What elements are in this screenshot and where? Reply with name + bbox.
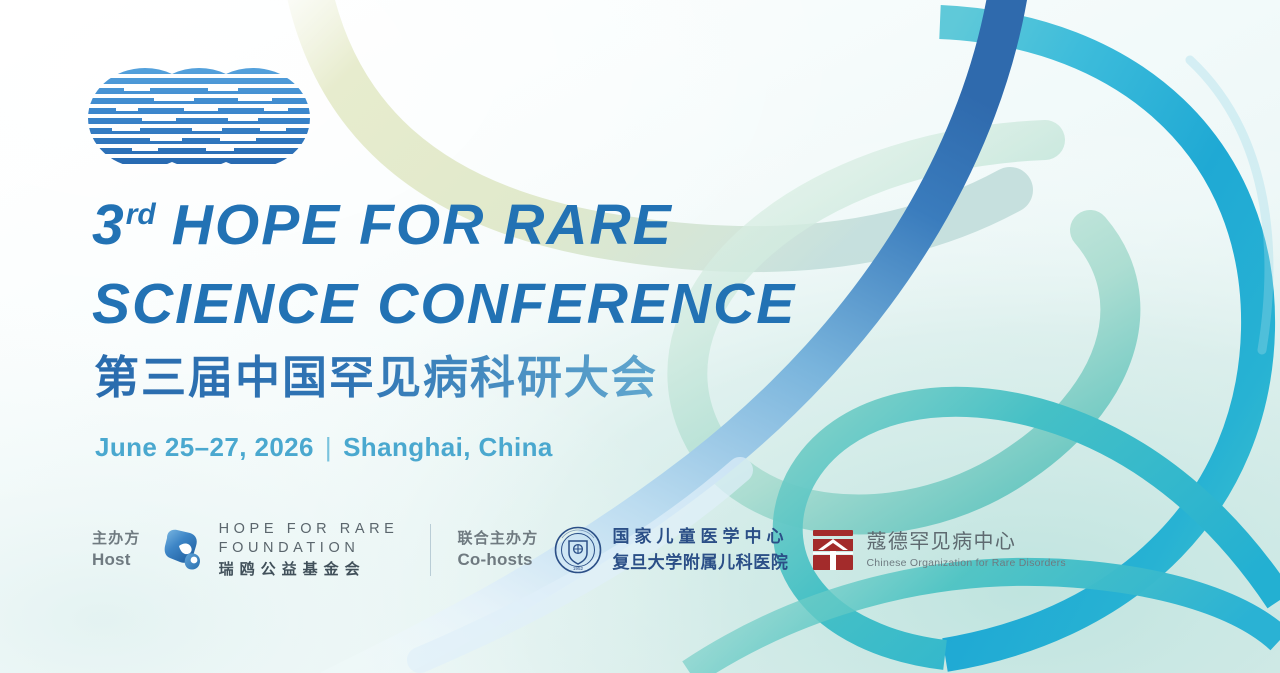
hospital-line-1: 国家儿童医学中心 — [612, 526, 788, 548]
meta-separator: | — [314, 432, 343, 463]
page-title-chinese: 第三届中国罕见病科研大会 — [94, 349, 658, 408]
page-title-line-1: 3rdHOPE FOR RARE — [92, 186, 992, 265]
hope-for-rare-foundation-text: HOPE FOR RARE FOUNDATION 瑞鸥公益基金会 — [219, 520, 399, 579]
hfr-line-2: FOUNDATION — [219, 539, 399, 558]
title-ordinal-suffix: rd — [126, 198, 156, 231]
cord-line-en: Chinese Organization for Rare Disorders — [866, 557, 1065, 571]
childrens-hospital-fudan-seal-logo: 1952 — [554, 526, 602, 574]
host-role-label: 主办方 Host — [92, 529, 141, 572]
title-line-1-text: HOPE FOR RARE — [172, 193, 673, 257]
page-title-line-2: SCIENCE CONFERENCE — [92, 265, 992, 344]
title-block: 3rdHOPE FOR RARE SCIENCE CONFERENCE 第三届中… — [92, 186, 992, 463]
host-label-cn: 主办方 — [92, 529, 141, 549]
partners-row: 主办方 Host — [92, 512, 1088, 588]
hfr-line-cn: 瑞鸥公益基金会 — [219, 560, 399, 580]
event-location: Shanghai, China — [343, 432, 553, 462]
partner-childrens-hospital-fudan[interactable]: 1952 国家儿童医学中心 复旦大学附属儿科医院 — [554, 526, 788, 574]
partner-hope-for-rare-foundation[interactable]: HOPE FOR RARE FOUNDATION 瑞鸥公益基金会 — [157, 520, 399, 579]
hope-for-rare-striped-logo — [88, 66, 310, 170]
chinese-organization-for-rare-disorders-logo — [810, 528, 856, 572]
host-label-en: Host — [92, 549, 141, 572]
event-dates: June 25–27, 2026 — [95, 432, 314, 462]
seal-year: 1952 — [573, 566, 584, 571]
event-meta: June 25–27, 2026|Shanghai, China — [95, 432, 992, 463]
cohosts-role-label: 联合主办方 Co-hosts — [457, 529, 538, 572]
childrens-hospital-fudan-text: 国家儿童医学中心 复旦大学附属儿科医院 — [612, 526, 788, 573]
conference-banner: 3rdHOPE FOR RARE SCIENCE CONFERENCE 第三届中… — [0, 0, 1280, 673]
hospital-line-2: 复旦大学附属儿科医院 — [612, 552, 788, 574]
partners-divider — [430, 524, 431, 576]
partner-chinese-organization-for-rare-disorders[interactable]: 蔻德罕见病中心 Chinese Organization for Rare Di… — [810, 528, 1065, 572]
cohosts-label-cn: 联合主办方 — [457, 529, 538, 549]
title-ordinal: 3 — [92, 193, 126, 257]
cohosts-label-en: Co-hosts — [457, 549, 538, 572]
cord-text: 蔻德罕见病中心 Chinese Organization for Rare Di… — [866, 529, 1065, 571]
cord-line-cn: 蔻德罕见病中心 — [866, 529, 1065, 555]
hfr-line-1: HOPE FOR RARE — [219, 520, 399, 539]
hope-for-rare-foundation-bird-logo — [157, 524, 209, 576]
